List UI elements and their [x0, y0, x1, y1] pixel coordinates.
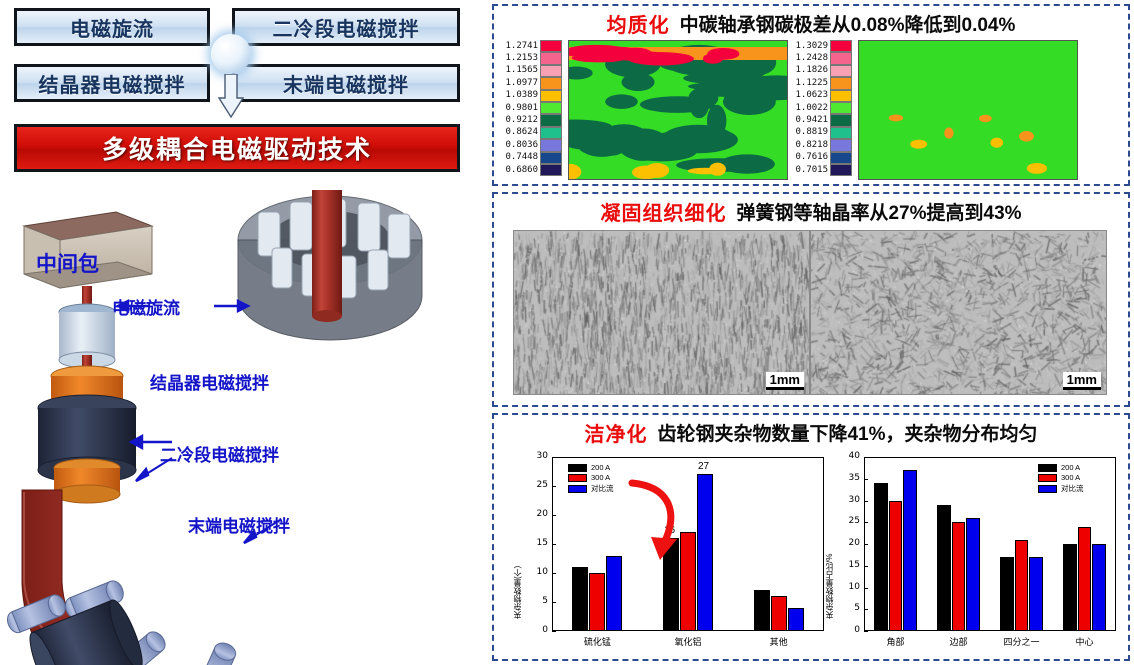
panel-solidification-description: 弹簧钢等轴晶率从27%提高到43% [736, 198, 1021, 225]
legend-swatch [568, 464, 587, 472]
y-axis-tick-mark [864, 501, 868, 502]
panel-homogenization: 均质化 中碳轴承钢碳极差从0.08%降低到0.04% 1.27411.21531… [492, 4, 1130, 186]
panel-solidification: 凝固组织细化 弹簧钢等轴晶率从27%提高到43% 1mm 1mm [492, 192, 1130, 407]
bar-value-label: 16 [664, 525, 675, 536]
legend-swatch [1038, 464, 1057, 472]
legend-item: 200 A [568, 463, 614, 472]
bar [1000, 557, 1014, 631]
panel-homogenization-keyword: 均质化 [607, 9, 670, 38]
legend-item: 对比流 [1038, 483, 1084, 494]
bar-value-label: 27 [698, 461, 709, 472]
down-arrow-icon [218, 74, 244, 118]
legend-item: 对比流 [568, 483, 614, 494]
color-scale-row: 0.9801 [502, 102, 564, 114]
color-scale-swatch [540, 164, 562, 176]
diagram-label-tundish: 中间包 [36, 248, 99, 278]
y-axis-tick-label: 40 [840, 451, 860, 461]
color-scale-value: 0.8819 [792, 128, 830, 137]
color-scale-value: 0.9801 [502, 104, 540, 113]
bar [874, 483, 888, 631]
color-scale-value: 1.1826 [792, 66, 830, 75]
panel-cleanliness-heading: 洁净化 齿轮钢夹杂物数量下降41%，夹杂物分布均匀 [494, 415, 1128, 449]
color-scale-swatch [830, 90, 852, 102]
bar [572, 567, 588, 631]
color-scale-row: 0.8218 [792, 139, 854, 151]
y-axis-tick-mark [864, 544, 868, 545]
y-axis-tick-label: 20 [840, 538, 860, 548]
bar [952, 522, 966, 631]
bar [966, 518, 980, 631]
chart-legend: 200 A300 A对比流 [568, 463, 614, 494]
color-scale-row: 1.2741 [502, 40, 564, 52]
y-axis-tick-label: 35 [840, 473, 860, 483]
color-scale-swatch [540, 127, 562, 139]
color-scale-row: 0.7448 [502, 152, 564, 164]
panel-cleanliness: 洁净化 齿轮钢夹杂物数量下降41%，夹杂物分布均匀 051015202530夹杂… [492, 413, 1130, 661]
y-axis-tick-mark [552, 631, 556, 632]
color-scale-swatch [540, 139, 562, 151]
y-axis-tick-mark [552, 544, 556, 545]
y-axis-tick-mark [552, 457, 556, 458]
color-scale-row: 0.7616 [792, 152, 854, 164]
diagram-label-mold-ems: 结晶器电磁搅拌 [150, 369, 269, 394]
color-scale-value: 1.3029 [792, 42, 830, 51]
legend-swatch [1038, 474, 1057, 482]
tech-box-final-ems[interactable]: 末端电磁搅拌 [232, 64, 460, 102]
right-results-column: 均质化 中碳轴承钢碳极差从0.08%降低到0.04% 1.27411.21531… [488, 0, 1134, 665]
carbon-segregation-map-after [858, 40, 1078, 180]
color-scale-value: 0.8218 [792, 141, 830, 150]
y-axis-tick-label: 0 [528, 625, 548, 635]
color-scale-row: 0.8624 [502, 127, 564, 139]
carbon-segregation-map-before [568, 40, 788, 180]
y-axis-tick-mark [552, 573, 556, 574]
chart-inclusion-distribution: 0510152025303540夹杂物数量占比/%角部边部四分之一中心200 A… [824, 447, 1124, 653]
diagram-label-secondary-cooling-ems: 二冷段电磁搅拌 [160, 441, 279, 466]
color-scale-row: 0.6860 [502, 164, 564, 176]
bar [771, 596, 787, 631]
color-scale-swatch [830, 152, 852, 164]
x-axis-tick-label: 硫化锰 [563, 635, 631, 648]
y-axis-tick-mark [552, 515, 556, 516]
color-scale-swatch [540, 52, 562, 64]
color-scale-swatch [540, 114, 562, 126]
bar [889, 501, 903, 632]
panel-solidification-heading: 凝固组织细化 弹簧钢等轴晶率从27%提高到43% [494, 194, 1128, 228]
color-scale-value: 1.0389 [502, 91, 540, 100]
color-scale-swatch [540, 40, 562, 52]
color-scale-swatch [830, 139, 852, 151]
tech-box-electromagnetic-swirl[interactable]: 电磁旋流 [14, 8, 210, 46]
color-scale-swatch [540, 102, 562, 114]
y-axis-label: 夹杂物数量(个) [512, 469, 523, 619]
diagram-label-final-ems: 末端电磁搅拌 [188, 512, 290, 537]
color-scale-value: 0.7015 [792, 166, 830, 175]
color-scale-row: 1.0977 [502, 77, 564, 89]
bar [1078, 527, 1092, 631]
legend-label: 200 A [1061, 463, 1080, 472]
panel-homogenization-description: 中碳轴承钢碳极差从0.08%降低到0.04% [680, 10, 1016, 37]
color-scale-row: 1.2153 [502, 52, 564, 64]
legend-label: 300 A [1061, 473, 1080, 482]
y-axis-tick-label: 10 [840, 582, 860, 592]
color-scale-swatch [540, 90, 562, 102]
bar [606, 556, 622, 631]
color-scale-swatch [830, 52, 852, 64]
color-scale-value: 0.8624 [502, 128, 540, 137]
tech-box-secondary-cooling-ems[interactable]: 二冷段电磁搅拌 [232, 8, 460, 46]
tech-box-label: 电磁旋流 [70, 13, 154, 42]
y-axis-tick-label: 30 [528, 451, 548, 461]
color-scale-row: 1.0623 [792, 90, 854, 102]
bar [589, 573, 605, 631]
y-axis-tick-label: 25 [840, 516, 860, 526]
chart-legend: 200 A300 A对比流 [1038, 463, 1084, 494]
panel-homogenization-heading: 均质化 中碳轴承钢碳极差从0.08%降低到0.04% [494, 6, 1128, 40]
y-axis-tick-mark [552, 602, 556, 603]
y-axis-tick-label: 0 [840, 625, 860, 635]
bar [754, 590, 770, 631]
color-scale-row: 1.0022 [792, 102, 854, 114]
tech-box-label: 二冷段电磁搅拌 [273, 13, 420, 42]
x-axis-tick-label: 中心 [1051, 635, 1119, 648]
chart-inclusion-count: 051015202530夹杂物数量(个)硫化锰氧化铝其他200 A300 A对比… [512, 447, 832, 653]
x-axis-tick-label: 四分之一 [988, 635, 1056, 648]
y-axis-tick-mark [552, 486, 556, 487]
bar [1063, 544, 1077, 631]
panel-cleanliness-description: 齿轮钢夹杂物数量下降41%，夹杂物分布均匀 [657, 419, 1037, 446]
y-axis-tick-mark [864, 457, 868, 458]
legend-item: 200 A [1038, 463, 1084, 472]
y-axis-tick-label: 20 [528, 509, 548, 519]
color-scale-swatch [830, 164, 852, 176]
bar [1092, 544, 1106, 631]
macrostructure-image-columnar: 1mm [513, 230, 810, 395]
color-scale-row: 0.9212 [502, 114, 564, 126]
bar [1015, 540, 1029, 631]
bar [680, 532, 696, 631]
x-axis-tick-label: 其他 [745, 635, 813, 648]
tech-box-label: 末端电磁搅拌 [283, 69, 409, 98]
x-axis-tick-label: 角部 [862, 635, 930, 648]
color-scale-value: 1.0623 [792, 91, 830, 100]
y-axis-tick-label: 30 [840, 495, 860, 505]
y-axis-tick-label: 5 [840, 603, 860, 613]
color-scale-swatch [540, 152, 562, 164]
color-scale-row: 1.0389 [502, 90, 564, 102]
y-axis-tick-label: 25 [528, 480, 548, 490]
color-scale-value: 0.6860 [502, 166, 540, 175]
macrostructure-image-equiaxed: 1mm [810, 230, 1107, 395]
color-scale-value: 1.0022 [792, 104, 830, 113]
y-axis-tick-mark [864, 631, 868, 632]
y-axis-tick-label: 5 [528, 596, 548, 606]
left-process-diagram-column: 电磁旋流 二冷段电磁搅拌 结晶器电磁搅拌 末端电磁搅拌 多级耦合电磁驱动技术 [0, 0, 486, 665]
color-scale-swatch [830, 102, 852, 114]
scale-bar-label-left: 1mm [766, 372, 804, 390]
legend-swatch [568, 485, 587, 493]
color-scale-value: 1.2741 [502, 42, 540, 51]
y-axis-tick-mark [864, 479, 868, 480]
bar [663, 538, 679, 631]
color-scale-left: 1.27411.21531.15651.09771.03890.98010.92… [502, 40, 564, 176]
color-scale-swatch [830, 40, 852, 52]
y-axis-tick-mark [864, 609, 868, 610]
legend-label: 对比流 [1061, 483, 1084, 494]
tech-box-mold-ems[interactable]: 结晶器电磁搅拌 [14, 64, 210, 102]
y-axis-tick-mark [864, 588, 868, 589]
color-scale-row: 0.9421 [792, 114, 854, 126]
color-scale-value: 0.9212 [502, 116, 540, 125]
bar [697, 474, 713, 631]
color-scale-row: 1.2428 [792, 52, 854, 64]
legend-swatch [1038, 485, 1057, 493]
y-axis-tick-label: 15 [528, 538, 548, 548]
diagram-label-swirl: 电磁旋流 [112, 294, 180, 319]
y-axis-tick-mark [864, 522, 868, 523]
color-scale-row: 0.7015 [792, 164, 854, 176]
bar [903, 470, 917, 631]
color-scale-row: 0.8036 [502, 139, 564, 151]
color-scale-value: 0.7448 [502, 153, 540, 162]
color-scale-value: 1.2153 [502, 54, 540, 63]
color-scale-value: 0.9421 [792, 116, 830, 125]
color-scale-row: 1.1826 [792, 65, 854, 77]
bar [937, 505, 951, 631]
color-scale-value: 0.8036 [502, 141, 540, 150]
bar [788, 608, 804, 631]
legend-label: 200 A [591, 463, 610, 472]
color-scale-value: 1.2428 [792, 54, 830, 63]
y-axis-tick-label: 10 [528, 567, 548, 577]
color-scale-row: 1.1225 [792, 77, 854, 89]
legend-swatch [568, 474, 587, 482]
x-axis-tick-label: 氧化铝 [654, 635, 722, 648]
tech-box-label: 结晶器电磁搅拌 [39, 69, 186, 98]
x-axis-tick-label: 边部 [925, 635, 993, 648]
junction-node-icon [211, 34, 251, 74]
color-scale-value: 1.1225 [792, 79, 830, 88]
color-scale-row: 1.3029 [792, 40, 854, 52]
color-scale-value: 1.0977 [502, 79, 540, 88]
y-axis-tick-mark [864, 566, 868, 567]
color-scale-swatch [540, 77, 562, 89]
panel-cleanliness-keyword: 洁净化 [584, 418, 647, 447]
color-scale-value: 1.1565 [502, 66, 540, 75]
legend-label: 对比流 [591, 483, 614, 494]
y-axis-label: 夹杂物数量占比/% [824, 469, 835, 619]
color-scale-right: 1.30291.24281.18261.12251.06231.00220.94… [792, 40, 854, 176]
color-scale-swatch [830, 77, 852, 89]
legend-item: 300 A [568, 473, 614, 482]
scale-bar-label-right: 1mm [1063, 372, 1101, 390]
main-technology-label: 多级耦合电磁驱动技术 [102, 130, 372, 166]
color-scale-swatch [830, 127, 852, 139]
color-scale-value: 0.7616 [792, 153, 830, 162]
color-scale-row: 0.8819 [792, 127, 854, 139]
color-scale-row: 1.1565 [502, 65, 564, 77]
legend-label: 300 A [591, 473, 610, 482]
color-scale-swatch [830, 65, 852, 77]
color-scale-swatch [830, 114, 852, 126]
legend-item: 300 A [1038, 473, 1084, 482]
swirl-stator-inset [238, 190, 422, 340]
main-technology-banner: 多级耦合电磁驱动技术 [14, 124, 460, 172]
color-scale-swatch [540, 65, 562, 77]
pointer-arrows [118, 301, 280, 543]
bar [1029, 557, 1043, 631]
panel-solidification-keyword: 凝固组织细化 [600, 197, 726, 226]
y-axis-tick-label: 15 [840, 560, 860, 570]
